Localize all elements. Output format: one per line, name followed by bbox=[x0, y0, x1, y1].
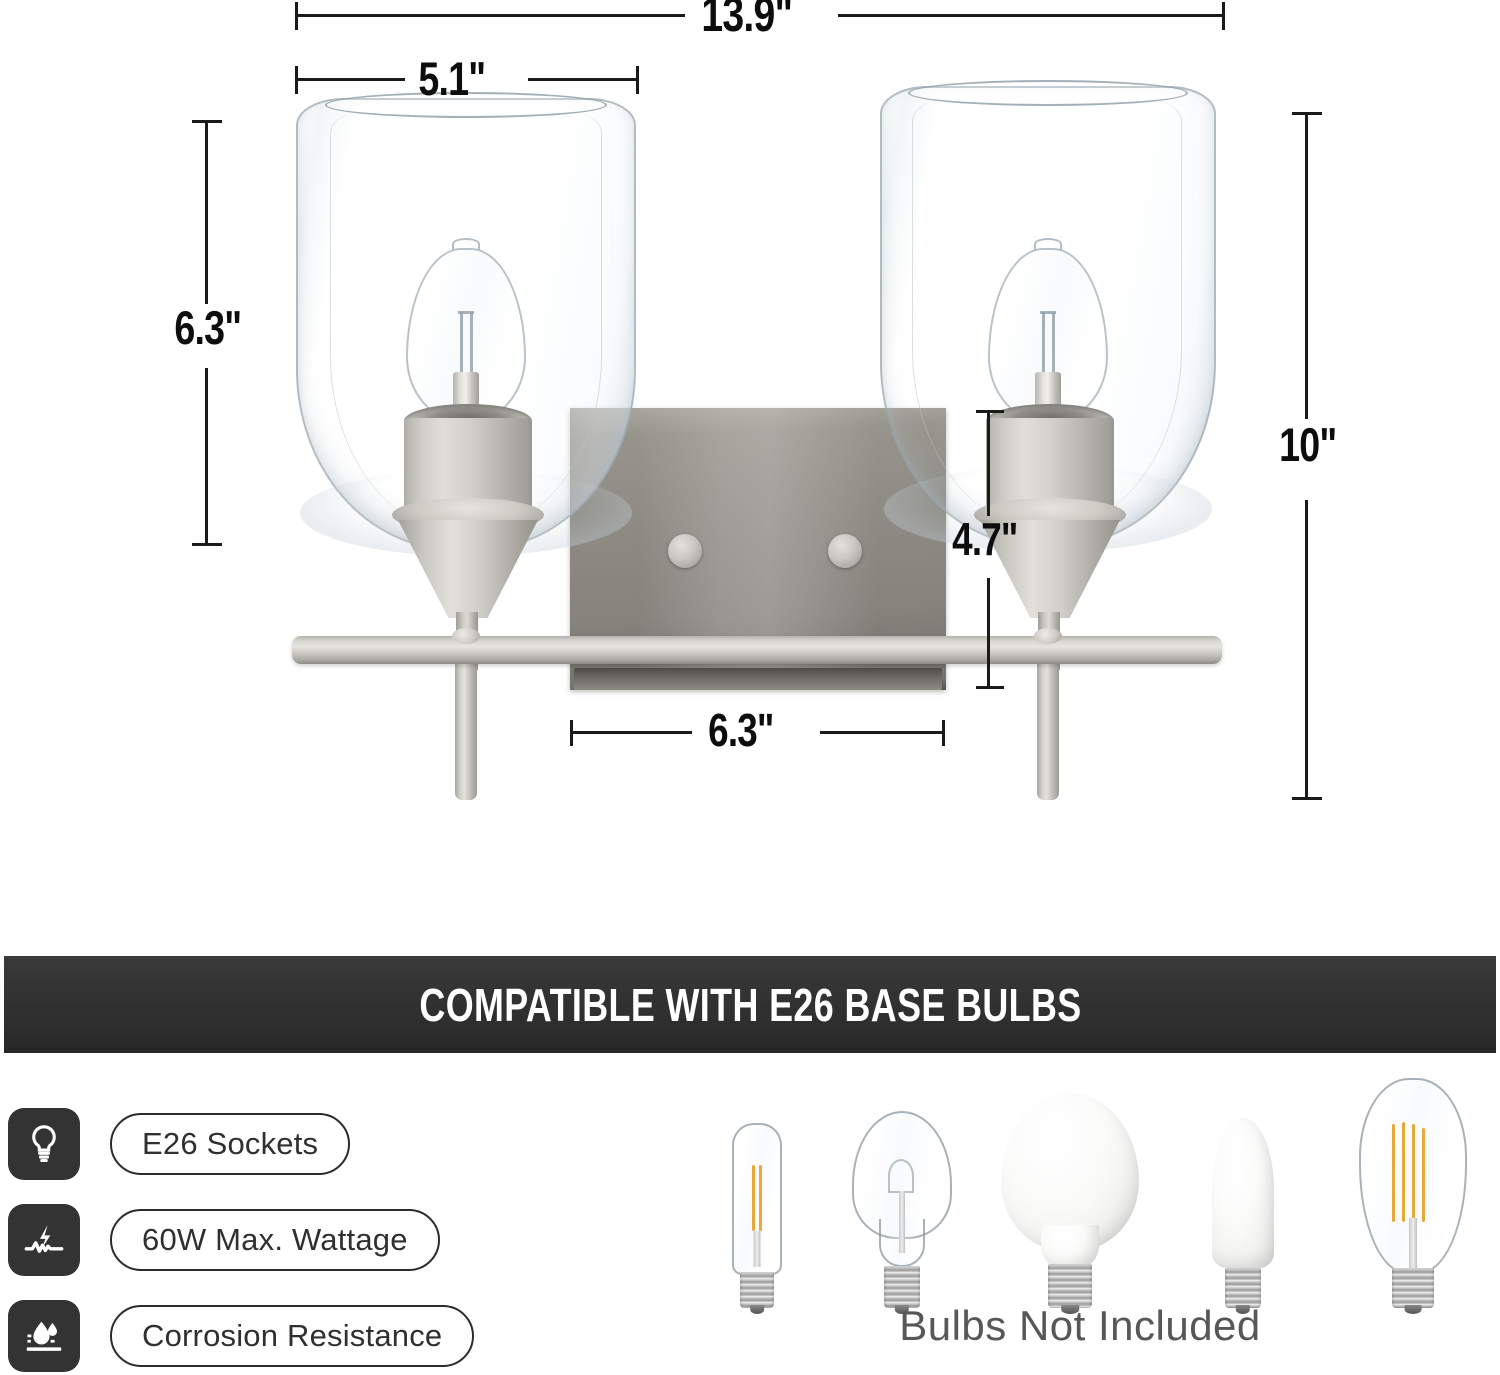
dim-line-overall-width-a bbox=[295, 14, 685, 17]
globe-frosted-bulb bbox=[990, 1093, 1150, 1308]
rod-joint-right bbox=[1034, 628, 1062, 644]
dim-line-overall-width-b bbox=[838, 14, 1225, 17]
dim-line-overall-height-b bbox=[1305, 500, 1308, 799]
tubular-filament-2 bbox=[759, 1165, 762, 1231]
dim-line-backplate-width-b bbox=[820, 731, 944, 734]
compatibility-banner: COMPATIBLE WITH E26 BASE BULBS bbox=[4, 956, 1496, 1053]
candle-bulb-glass bbox=[1212, 1118, 1274, 1268]
edison-filament-stem bbox=[1409, 1218, 1417, 1268]
dim-cap-width-right bbox=[1222, 2, 1225, 30]
feature-row-e26-sockets: E26 Sockets bbox=[0, 1096, 520, 1192]
feature-pill-corrosion: Corrosion Resistance bbox=[110, 1305, 474, 1367]
horizontal-crossbar bbox=[292, 636, 1222, 664]
bulb-filament-right-a bbox=[1042, 312, 1045, 372]
rod-joint-left bbox=[452, 628, 480, 644]
dim-cap-socket-height-top bbox=[976, 410, 1004, 413]
feature-row-corrosion: Corrosion Resistance bbox=[0, 1288, 520, 1375]
dim-label-overall-height: 10" bbox=[1279, 421, 1336, 468]
feature-pill-wattage: 60W Max. Wattage bbox=[110, 1209, 440, 1271]
dim-label-socket-height: 4.7" bbox=[952, 516, 1017, 562]
bulb-filament-right-b bbox=[1052, 312, 1055, 372]
screw-cap-left bbox=[668, 534, 702, 568]
feature-label-wattage: 60W Max. Wattage bbox=[142, 1222, 408, 1258]
a-shape-clear-bulb bbox=[842, 1111, 962, 1308]
bulb-filament-left-cross bbox=[458, 311, 474, 314]
dim-cap-shade-height-bottom bbox=[192, 543, 222, 546]
bulb-filament-right-cross bbox=[1040, 311, 1056, 314]
cone-shroud-left bbox=[398, 520, 538, 618]
edison-filament-3 bbox=[1412, 1124, 1415, 1222]
dim-line-overall-height-a bbox=[1305, 114, 1308, 419]
edison-st64-bulb bbox=[1348, 1078, 1478, 1308]
a-shape-filament-stem bbox=[899, 1191, 905, 1253]
bulb-filament-left-b bbox=[470, 312, 473, 372]
drop-rod-right bbox=[1037, 640, 1059, 800]
feature-pill-e26-sockets: E26 Sockets bbox=[110, 1113, 350, 1175]
a-shape-filament-loop bbox=[888, 1159, 914, 1193]
dim-label-shade-width: 5.1" bbox=[418, 55, 485, 102]
dim-label-backplate-width: 6.3" bbox=[708, 707, 773, 753]
dim-line-socket-height-b bbox=[987, 578, 990, 688]
banner-title: COMPATIBLE WITH E26 BASE BULBS bbox=[419, 978, 1081, 1032]
dim-label-shade-height: 6.3" bbox=[174, 304, 241, 351]
edison-filament-4 bbox=[1422, 1128, 1425, 1222]
drop-rod-left bbox=[455, 640, 477, 800]
dim-line-shade-height-a bbox=[205, 122, 208, 304]
dim-line-shade-width-a bbox=[295, 78, 405, 81]
water-droplet-icon bbox=[8, 1300, 80, 1372]
compatible-bulb-lineup bbox=[660, 1058, 1500, 1308]
lightbulb-icon bbox=[8, 1108, 80, 1180]
dim-cap-socket-height-bottom bbox=[976, 686, 1004, 689]
dim-label-overall-width: 13.9" bbox=[701, 0, 792, 40]
glass-shade-right-rim bbox=[908, 80, 1188, 106]
screw-cap-right bbox=[828, 534, 862, 568]
fixture-illustration bbox=[0, 0, 1500, 940]
feature-row-wattage: 60W Max. Wattage bbox=[0, 1192, 520, 1288]
tubular-filament-stem bbox=[754, 1231, 761, 1267]
edison-filament-2 bbox=[1402, 1122, 1405, 1222]
product-dimension-infographic: 13.9" 5.1" 6.3" 10" 4.7" 6.3" COMPAT bbox=[0, 0, 1500, 1375]
lightning-wave-icon bbox=[8, 1204, 80, 1276]
feature-label-corrosion: Corrosion Resistance bbox=[142, 1318, 442, 1354]
feature-list: E26 Sockets 60W Max. Wattage bbox=[0, 1096, 520, 1375]
dim-line-socket-height-a bbox=[987, 412, 990, 516]
feature-label-e26-sockets: E26 Sockets bbox=[142, 1126, 318, 1162]
dim-line-shade-width-b bbox=[528, 78, 638, 81]
dim-cap-shade-width-right bbox=[636, 66, 639, 94]
tubular-filament-bulb bbox=[702, 1123, 812, 1308]
edison-filament-1 bbox=[1392, 1124, 1395, 1222]
candle-frosted-bulb bbox=[1188, 1118, 1298, 1308]
tubular-filament-1 bbox=[752, 1165, 755, 1231]
dim-cap-backplate-width-right bbox=[942, 720, 945, 746]
dim-line-backplate-width-a bbox=[570, 731, 692, 734]
dim-cap-overall-height-bottom bbox=[1292, 797, 1322, 800]
backplate-bottom-lip bbox=[574, 668, 942, 690]
bulbs-not-included-caption: Bulbs Not Included bbox=[660, 1302, 1500, 1350]
bulb-filament-left-a bbox=[460, 312, 463, 372]
dim-line-shade-height-b bbox=[205, 368, 208, 544]
